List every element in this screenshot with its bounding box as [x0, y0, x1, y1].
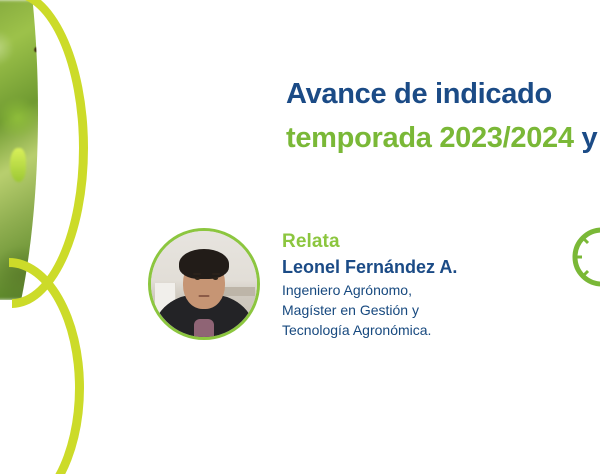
title-line-2-tail: y p — [574, 122, 600, 154]
title-line-1: Avance de indicado — [286, 72, 600, 116]
avatar-hair — [179, 249, 229, 279]
title-line-2: temporada 2023/2024 y p — [286, 116, 600, 160]
avatar-mouth — [199, 295, 210, 297]
speaker-credential-line: Magíster en Gestión y — [282, 300, 457, 320]
avatar-shelf-detail — [221, 287, 255, 296]
lime-curve-lower — [0, 258, 84, 474]
page-title: Avance de indicado temporada 2023/2024 y… — [286, 72, 600, 160]
title-line-1-text: Avance de indicado — [286, 78, 552, 110]
title-season-text: temporada 2023/2024 — [286, 122, 574, 154]
speaker-text: Relata Leonel Fernández A. Ingeniero Agr… — [282, 228, 457, 340]
avatar-eyebrow-right — [212, 273, 220, 275]
speaker-name: Leonel Fernández A. — [282, 254, 457, 280]
speaker-credential-line: Tecnología Agronómica. — [282, 320, 457, 340]
speaker-role-label: Relata — [282, 230, 457, 254]
avatar-eyebrow-left — [193, 273, 201, 275]
avatar — [148, 228, 260, 340]
speaker-block: Relata Leonel Fernández A. Ingeniero Agr… — [148, 228, 457, 340]
avatar-eye-right — [213, 277, 218, 280]
avatar-eye-left — [195, 277, 200, 280]
left-decoration — [0, 0, 112, 474]
speaker-credential-line: Ingeniero Agrónomo, — [282, 280, 457, 300]
avatar-shirt — [194, 319, 214, 337]
clock-icon — [569, 224, 600, 290]
